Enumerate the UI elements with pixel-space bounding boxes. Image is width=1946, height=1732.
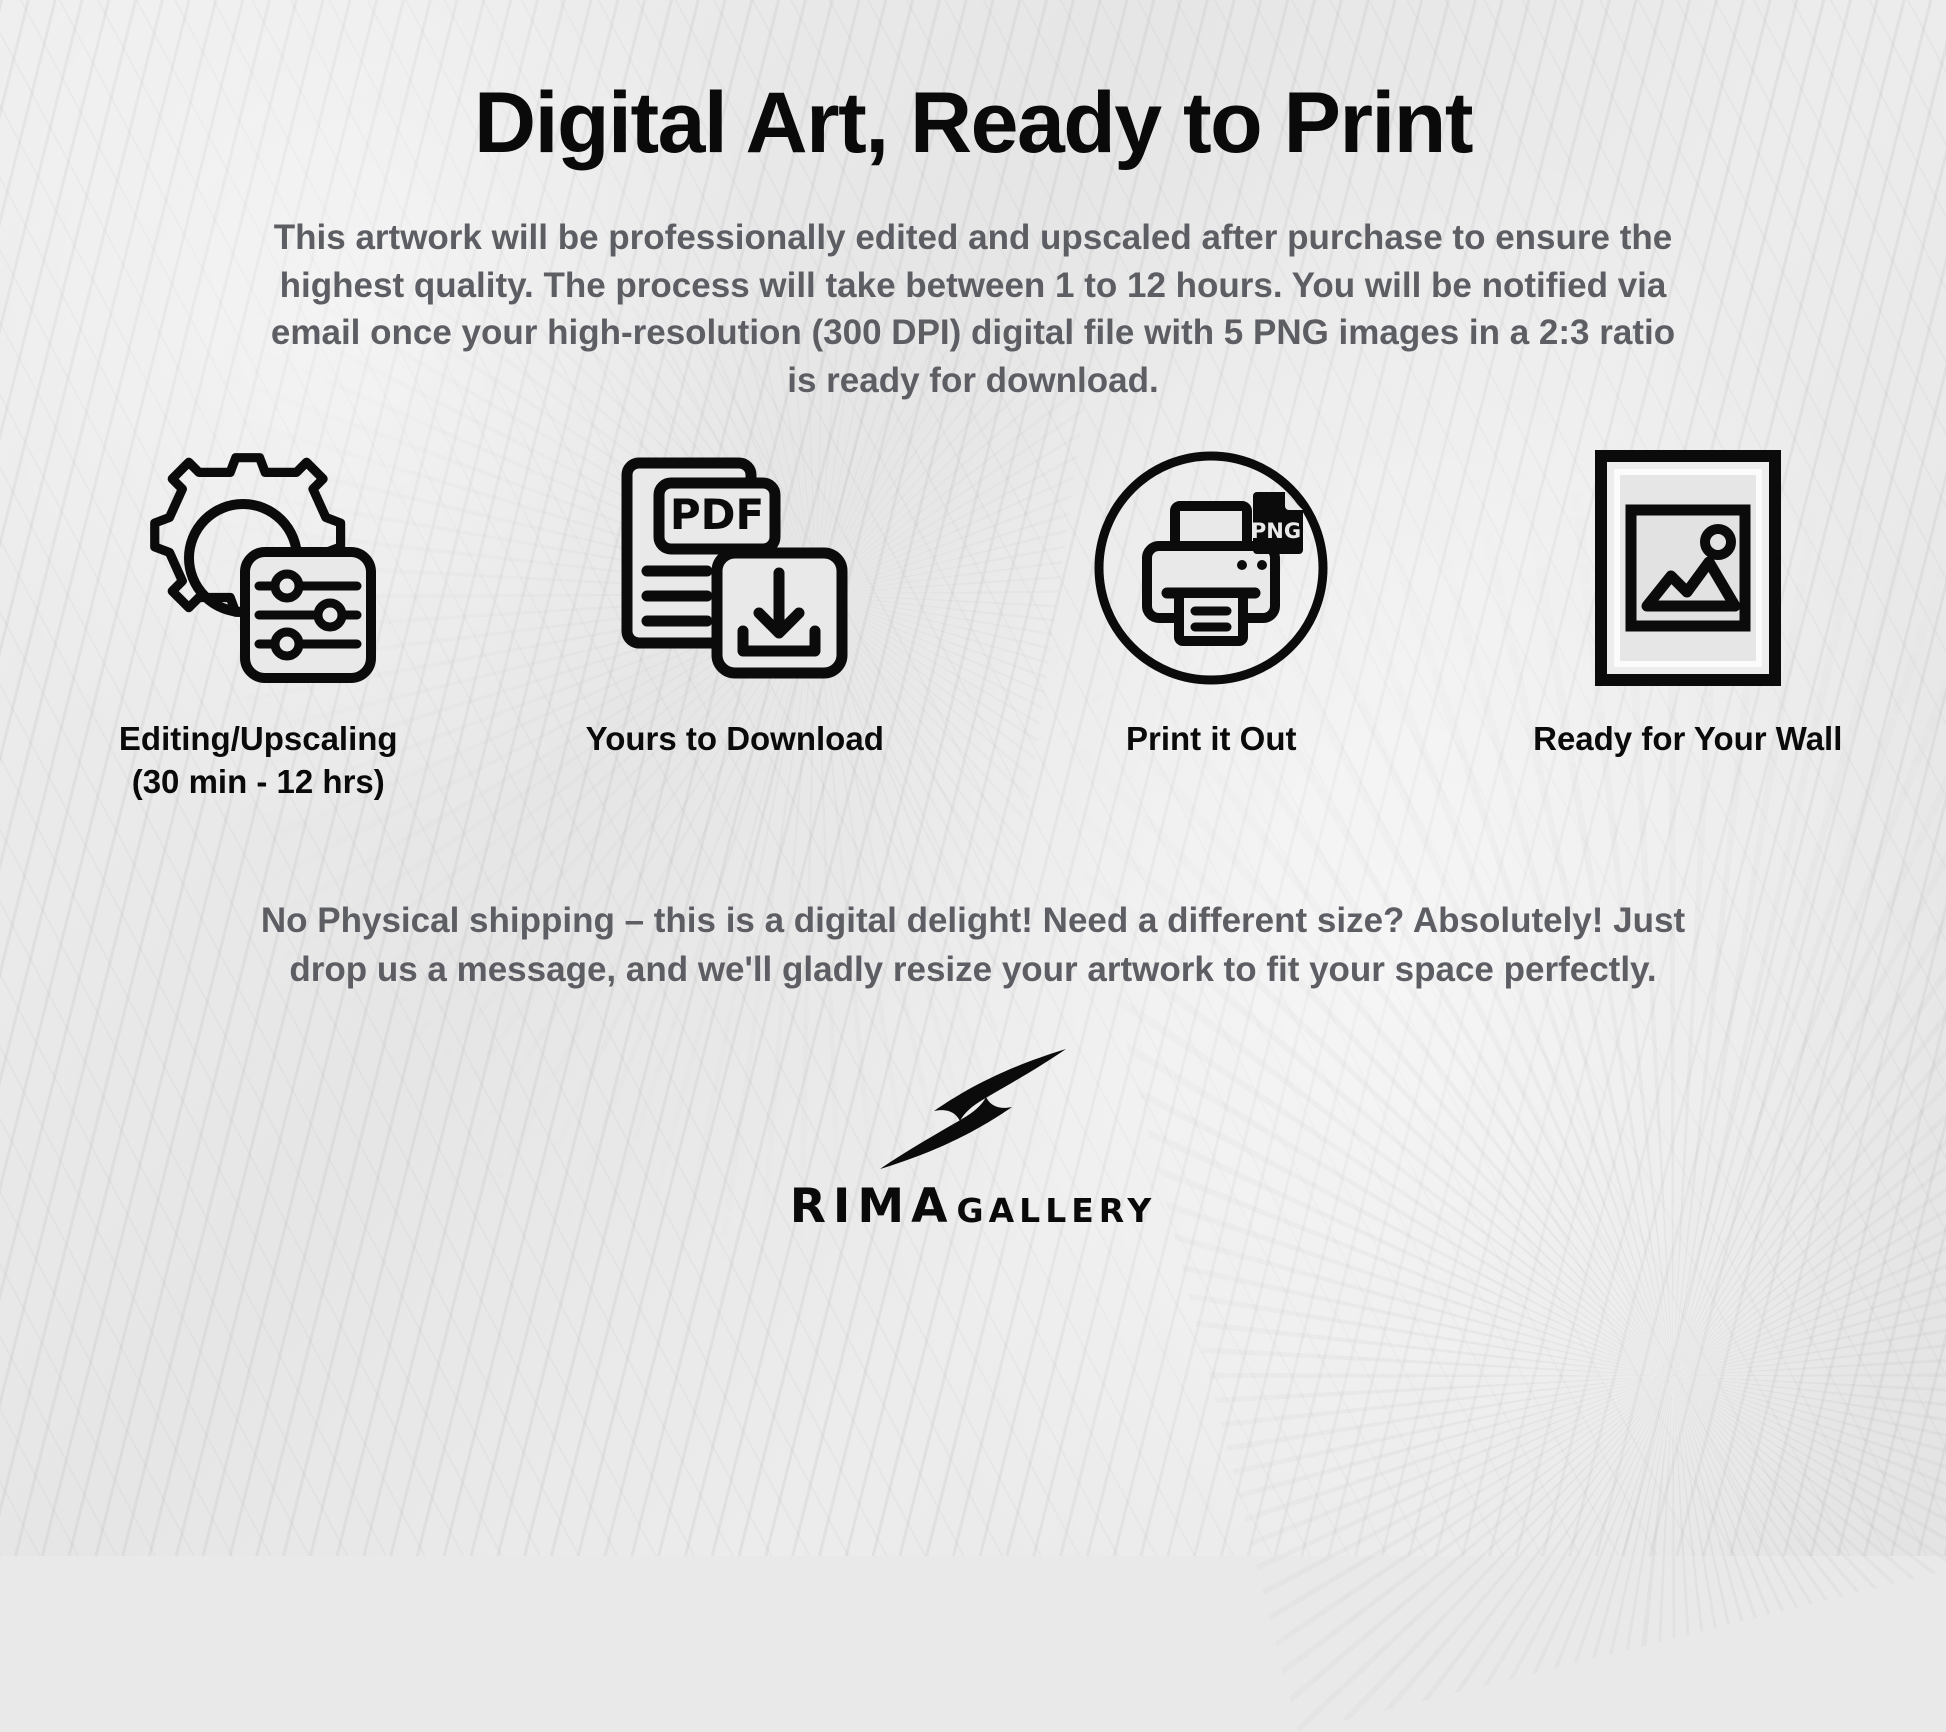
brand-name-primary: RIMA	[790, 1179, 955, 1234]
promo-graphic: Digital Art, Ready to Print This artwork…	[0, 0, 1946, 1556]
brand-name-secondary: GALLERY	[957, 1191, 1157, 1230]
intro-paragraph: This artwork will be professionally edit…	[258, 214, 1688, 404]
brand-wordmark: RIMA GALLERY	[790, 1179, 1157, 1234]
png-badge-text: PNG	[1251, 519, 1301, 543]
feature-item-print: PNG Print it Out	[996, 443, 1426, 761]
printer-circle-icon: PNG	[1091, 443, 1331, 693]
feature-item-download: PDF Yours to Download	[520, 443, 950, 761]
gear-sliders-icon	[135, 443, 381, 693]
outro-paragraph: No Physical shipping – this is a digital…	[238, 896, 1708, 995]
feature-item-wall-ready: Ready for Your Wall	[1473, 443, 1903, 761]
feature-label: Yours to Download	[586, 717, 884, 761]
feature-label: Editing/Upscaling (30 min - 12 hrs)	[119, 717, 398, 804]
feature-label: Print it Out	[1126, 717, 1296, 761]
framed-picture-icon	[1593, 443, 1783, 693]
feature-item-editing-upscaling: Editing/Upscaling (30 min - 12 hrs)	[43, 443, 473, 804]
page-title: Digital Art, Ready to Print	[0, 78, 1946, 168]
feature-label: Ready for Your Wall	[1533, 717, 1842, 761]
pdf-badge-text: PDF	[670, 490, 764, 539]
feature-row: Editing/Upscaling (30 min - 12 hrs) PDF	[0, 443, 1946, 804]
brand-logo: RIMA GALLERY	[790, 1045, 1157, 1234]
pdf-download-icon: PDF	[617, 443, 852, 693]
swoosh-wing-mark-icon	[868, 1045, 1078, 1173]
